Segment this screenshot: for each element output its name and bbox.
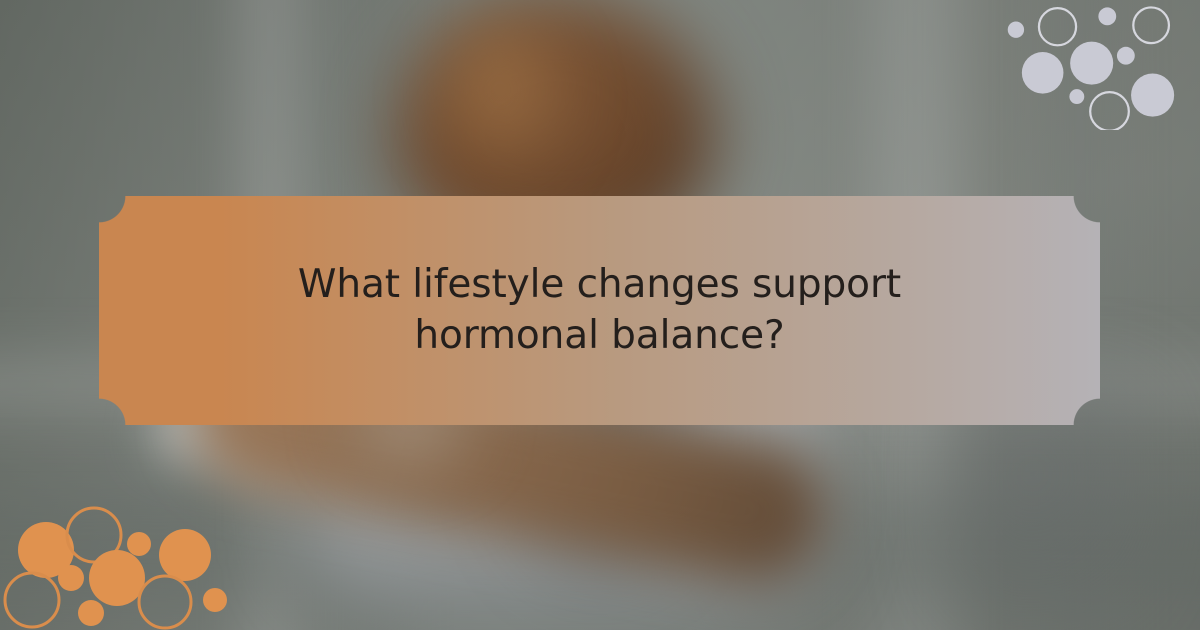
quote-card: What lifestyle changes support hormonal …	[99, 196, 1100, 425]
decorative-circles-top-right	[970, 0, 1200, 130]
decorative-dot	[1022, 52, 1064, 94]
decorative-dot	[127, 532, 151, 556]
decorative-ring	[1039, 8, 1076, 45]
decorative-dot	[203, 588, 227, 612]
decorative-ring	[139, 576, 191, 628]
decorative-dot	[1117, 47, 1135, 65]
decorative-dot	[1008, 22, 1024, 38]
social-card-canvas: What lifestyle changes support hormonal …	[0, 0, 1200, 630]
decorative-ring	[1090, 92, 1129, 130]
decorative-ring	[5, 573, 59, 627]
decorative-dot	[1069, 89, 1084, 104]
decorative-dot	[78, 600, 104, 626]
decorative-circles-bottom-left	[0, 490, 270, 630]
decorative-dot	[159, 529, 211, 581]
decorative-dot	[1070, 42, 1113, 85]
decorative-dot	[1131, 74, 1174, 117]
decorative-ring	[1133, 7, 1169, 43]
decorative-dot	[1098, 7, 1116, 25]
quote-text: What lifestyle changes support hormonal …	[220, 260, 980, 361]
decorative-dot	[58, 565, 84, 591]
decorative-dot	[89, 550, 145, 606]
